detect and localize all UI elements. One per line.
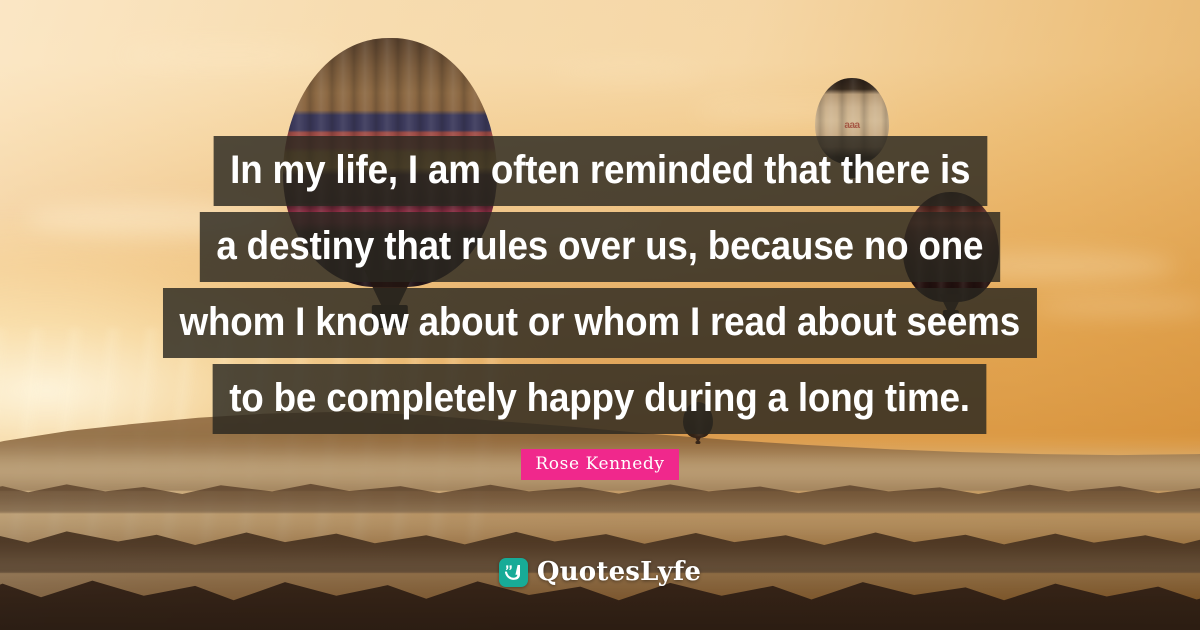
balloon-envelope-text: aaa [844,120,859,131]
quote-text-block: In my life, I am often reminded that the… [0,136,1200,434]
author-badge: Rose Kennedy [521,449,678,480]
brand-watermark: QuotesLyfe [0,557,1200,587]
quote-line-3: whom I know about or whom I read about s… [163,288,1037,358]
brand-name: QuotesLyfe [537,557,701,587]
quote-line-2: a destiny that rules over us, because no… [200,212,1000,282]
quote-line-1: In my life, I am often reminded that the… [213,136,986,206]
balloon-basket [695,441,700,444]
quote-card: aaa In my life, I am often reminded that… [0,0,1200,630]
quote-line-4: to be completely happy during a long tim… [213,364,987,434]
author-badge-wrapper: Rose Kennedy [0,449,1200,480]
quote-marks-icon [499,558,528,587]
cloud-streak [552,63,708,81]
